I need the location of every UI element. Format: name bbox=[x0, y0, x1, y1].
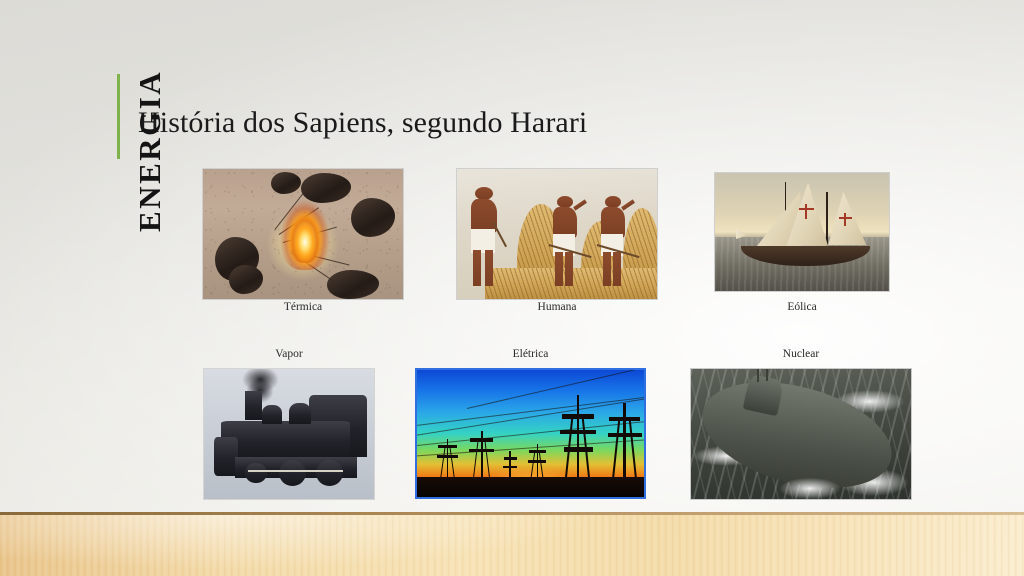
pylon-tower bbox=[437, 439, 457, 485]
figure-leg bbox=[613, 252, 621, 286]
periscope bbox=[766, 368, 768, 381]
figure-leg bbox=[485, 250, 493, 286]
periscope bbox=[757, 368, 759, 382]
image-power-pylons-sunset[interactable] bbox=[415, 368, 646, 499]
mast bbox=[826, 192, 828, 249]
figure-torso bbox=[471, 199, 497, 233]
caption-nuclear: Nuclear bbox=[690, 348, 912, 360]
page-title: História dos Sapiens, segundo Harari bbox=[138, 106, 587, 140]
figure-arm bbox=[573, 199, 587, 210]
image-sailing-caravel[interactable] bbox=[714, 172, 890, 292]
sail-cross bbox=[839, 217, 853, 219]
locomotive-chimney bbox=[245, 391, 262, 420]
title-accent-bar bbox=[117, 74, 120, 159]
caption-termica: Térmica bbox=[202, 301, 404, 313]
sail bbox=[828, 192, 866, 249]
pylon-tower bbox=[560, 395, 596, 481]
presentation-slide: História dos Sapiens, segundo Harari ENE… bbox=[0, 0, 1024, 576]
caption-eolica: Eólica bbox=[714, 301, 890, 313]
pylon-tower bbox=[469, 431, 494, 484]
caption-humana: Humana bbox=[456, 301, 658, 313]
locomotive-wheel bbox=[316, 460, 343, 486]
locomotive-dome bbox=[289, 403, 311, 424]
locomotive-dome bbox=[262, 405, 282, 423]
image-egyptian-harvest[interactable] bbox=[456, 168, 658, 300]
figure-leg bbox=[473, 250, 481, 286]
figure-leg bbox=[603, 252, 611, 286]
figure-leg bbox=[555, 252, 563, 286]
coupling-rod bbox=[248, 470, 343, 472]
wood-floor bbox=[0, 515, 1024, 576]
figure-leg bbox=[565, 252, 573, 286]
wake-foam bbox=[766, 473, 854, 500]
sail-cross bbox=[805, 204, 807, 219]
caption-vapor: Vapor bbox=[203, 348, 375, 360]
figure-arm bbox=[621, 199, 635, 210]
locomotive-boiler bbox=[221, 421, 350, 460]
sail-cross bbox=[844, 213, 846, 226]
caption-eletrica: Elétrica bbox=[415, 348, 646, 360]
pylon-tower bbox=[528, 444, 546, 485]
image-campfire[interactable] bbox=[202, 168, 404, 300]
locomotive-wheel bbox=[279, 460, 306, 486]
locomotive-wheel bbox=[245, 463, 267, 484]
sail-cross bbox=[799, 208, 815, 210]
side-label-energia: ENERGIA bbox=[132, 32, 168, 232]
image-steam-locomotive[interactable] bbox=[203, 368, 375, 500]
pylon-tower bbox=[503, 451, 517, 484]
image-nuclear-submarine[interactable] bbox=[690, 368, 912, 500]
pylon-tower bbox=[608, 403, 642, 482]
